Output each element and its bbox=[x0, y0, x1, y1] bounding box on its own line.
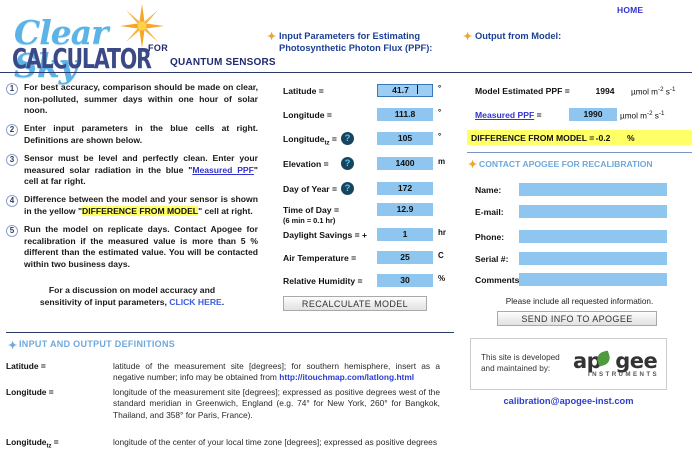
logo-calculator-text: CALCULATOR bbox=[12, 44, 151, 75]
apogee-wordmark-b: gee bbox=[615, 349, 657, 373]
instruction-text-5: Run the model on replicate days. Contact… bbox=[24, 224, 258, 270]
name-label: Name: bbox=[475, 185, 501, 195]
unit-sup-4: -1 bbox=[659, 110, 665, 117]
difference-from-model-label: DIFFERENCE FROM MODEL = bbox=[471, 133, 594, 143]
model-accuracy-note-line1: For a discussion on model accuracy and bbox=[49, 285, 215, 295]
email-label: E-mail: bbox=[475, 207, 504, 217]
for-subject-label: QUANTUM SENSORS bbox=[170, 57, 276, 68]
definition-longitude-tz-term-text: Longitude bbox=[6, 437, 46, 447]
relative-humidity-input[interactable]: 30 bbox=[377, 274, 433, 287]
time-of-day-input[interactable]: 12.9 bbox=[377, 203, 433, 216]
phone-field[interactable] bbox=[519, 230, 667, 243]
longitude-tz-label: Longitudetz = bbox=[283, 134, 337, 147]
day-of-year-input[interactable]: 172 bbox=[377, 182, 433, 195]
apogee-credit-line1: This site is developed bbox=[481, 353, 560, 362]
contact-section-divider bbox=[467, 152, 692, 153]
send-info-to-apogee-button[interactable]: SEND INFO TO APOGEE bbox=[497, 311, 657, 326]
elevation-unit: m bbox=[438, 157, 445, 166]
measured-ppf-inline-link[interactable]: Measured PPF bbox=[192, 165, 254, 175]
latitude-value: 41.7 bbox=[392, 85, 409, 95]
header-divider-left bbox=[0, 72, 262, 73]
header-divider bbox=[262, 72, 692, 73]
instruction-number-1: 1 bbox=[6, 83, 18, 95]
latlong-url-link[interactable]: http://itouchmap.com/latlong.html bbox=[279, 372, 414, 382]
home-link[interactable]: HOME bbox=[617, 5, 643, 15]
apogee-credit-line2: and maintained by: bbox=[481, 364, 550, 373]
sun-starburst-icon bbox=[120, 4, 164, 48]
definition-body-longitude-tz: longitude of the center of your local ti… bbox=[113, 437, 440, 448]
elevation-input[interactable]: 1400 bbox=[377, 157, 433, 170]
instruction-number-2: 2 bbox=[6, 124, 18, 136]
instruction-text-1: For best accuracy, comparison should be … bbox=[24, 82, 258, 117]
time-of-day-label: Time of Day = bbox=[283, 205, 339, 215]
recalculate-model-button[interactable]: RECALCULATE MODEL bbox=[283, 296, 427, 311]
elevation-help-icon[interactable]: ? bbox=[341, 157, 354, 170]
daylight-savings-input[interactable]: 1 bbox=[377, 228, 433, 241]
difference-from-model-unit: % bbox=[627, 133, 635, 143]
clear-sky-calculator-page: HOME Clear Sky CALCULATOR FOR QUANTUM SE… bbox=[0, 0, 692, 455]
definitions-divider bbox=[6, 332, 454, 333]
output-heading-star-icon: ✦ bbox=[463, 32, 472, 42]
definition-body-longitude: longitude of the measurement site [degre… bbox=[113, 387, 440, 421]
click-here-link[interactable]: CLICK HERE bbox=[169, 297, 222, 307]
serial-number-label: Serial #: bbox=[475, 254, 508, 264]
day-of-year-help-icon[interactable]: ? bbox=[341, 182, 354, 195]
air-temperature-input[interactable]: 25 bbox=[377, 251, 433, 264]
definition-term-longitude-tz: Longitudetz = bbox=[6, 437, 59, 450]
instruction-item-4: 4 Difference between the model and your … bbox=[6, 194, 258, 217]
elevation-label: Elevation = bbox=[283, 159, 329, 169]
apogee-email-link[interactable]: calibration@apogee-inst.com bbox=[470, 396, 667, 406]
comments-field[interactable] bbox=[519, 273, 667, 286]
longitude-tz-label-suffix: = bbox=[330, 134, 337, 144]
apogee-instruments-subtext: INSTRUMENTS bbox=[588, 371, 659, 378]
instruction-item-3: 3 Sensor must be level and perfectly cle… bbox=[6, 153, 258, 188]
instruction-text-2: Enter input parameters in the blue cells… bbox=[24, 123, 258, 146]
longitude-unit: ° bbox=[438, 108, 441, 117]
relative-humidity-unit: % bbox=[438, 274, 445, 283]
instruction-number-3: 3 bbox=[6, 154, 18, 166]
model-estimated-ppf-value: 1994 bbox=[584, 86, 626, 96]
measured-ppf-link[interactable]: Measured PPF bbox=[475, 110, 534, 120]
contact-apogee-heading: CONTACT APOGEE FOR RECALIBRATION bbox=[479, 158, 653, 170]
definition-term-latitude: Latitude = bbox=[6, 361, 46, 371]
latitude-input[interactable]: 41.7 bbox=[377, 84, 433, 97]
instruction-item-2: 2 Enter input parameters in the blue cel… bbox=[6, 123, 258, 146]
apogee-wordmark: apgee bbox=[573, 349, 657, 373]
daylight-savings-unit: hr bbox=[438, 228, 446, 237]
longitude-tz-unit: ° bbox=[438, 132, 441, 141]
definitions-heading: INPUT AND OUTPUT DEFINITIONS bbox=[19, 339, 175, 349]
email-field[interactable] bbox=[519, 205, 667, 218]
daylight-savings-label: Daylight Savings = + bbox=[283, 230, 367, 240]
apogee-credit-text: This site is developedand maintained by: bbox=[481, 352, 560, 374]
day-of-year-label: Day of Year = bbox=[283, 184, 337, 194]
for-label: FOR bbox=[148, 43, 168, 53]
unit-main-2: µmol m bbox=[620, 112, 647, 121]
latitude-label: Latitude = bbox=[283, 86, 324, 96]
air-temperature-label: Air Temperature = bbox=[283, 253, 356, 263]
serial-number-field[interactable] bbox=[519, 252, 667, 265]
unit-main-1: µmol m bbox=[631, 88, 658, 97]
output-heading: Output from Model: bbox=[475, 30, 655, 42]
relative-humidity-label: Relative Humidity = bbox=[283, 276, 363, 286]
time-of-day-note: (6 min = 0.1 hr) bbox=[283, 216, 335, 225]
phone-label: Phone: bbox=[475, 232, 504, 242]
text-caret bbox=[417, 85, 418, 94]
measured-ppf-label: Measured PPF = bbox=[475, 110, 542, 120]
measured-ppf-label-suffix: = bbox=[534, 110, 541, 120]
model-accuracy-note-line2-post: . bbox=[222, 297, 224, 307]
definition-longitude-tz-suffix: = bbox=[51, 437, 58, 447]
unit-sup-2: -1 bbox=[670, 86, 676, 93]
instruction-text-3: Sensor must be level and perfectly clean… bbox=[24, 153, 258, 188]
instructions-list: 1 For best accuracy, comparison should b… bbox=[6, 82, 258, 277]
latitude-unit: ° bbox=[438, 84, 441, 93]
longitude-tz-help-icon[interactable]: ? bbox=[341, 132, 354, 145]
definitions-heading-star-icon: ✦ bbox=[8, 341, 17, 351]
model-accuracy-note: For a discussion on model accuracy and s… bbox=[6, 285, 258, 308]
longitude-tz-input[interactable]: 105 bbox=[377, 132, 433, 145]
measured-ppf-input[interactable]: 1990 bbox=[569, 108, 617, 121]
input-parameters-heading: Input Parameters for Estimating Photosyn… bbox=[279, 30, 439, 55]
name-field[interactable] bbox=[519, 183, 667, 196]
air-temperature-unit: C bbox=[438, 251, 444, 260]
measured-ppf-unit: µmol m-2 s-1 bbox=[620, 110, 664, 121]
contact-heading-star-icon: ✦ bbox=[468, 160, 477, 170]
difference-from-model-value: -0.2 bbox=[586, 133, 620, 143]
longitude-input[interactable]: 111.8 bbox=[377, 108, 433, 121]
longitude-label: Longitude = bbox=[283, 110, 332, 120]
definition-term-longitude: Longitude = bbox=[6, 387, 54, 397]
definition-body-latitude: latitude of the measurement site [degree… bbox=[113, 361, 440, 384]
difference-from-model-inline-highlight: DIFFERENCE FROM MODEL bbox=[82, 206, 198, 216]
model-estimated-ppf-unit: µmol m-2 s-1 bbox=[631, 86, 675, 97]
comments-label: Comments: bbox=[475, 275, 522, 285]
instruction-number-4: 4 bbox=[6, 195, 18, 207]
clear-sky-calculator-logo: Clear Sky CALCULATOR bbox=[12, 8, 162, 70]
input-heading-star-icon: ✦ bbox=[267, 32, 276, 42]
contact-form-note: Please include all requested information… bbox=[467, 297, 692, 306]
instruction-item-1: 1 For best accuracy, comparison should b… bbox=[6, 82, 258, 117]
instruction-text-4: Difference between the model and your se… bbox=[24, 194, 258, 217]
instruction-item-5: 5 Run the model on replicate days. Conta… bbox=[6, 224, 258, 270]
model-accuracy-note-line2-pre: sensitivity of input parameters, bbox=[40, 297, 169, 307]
longitude-tz-label-text: Longitude bbox=[283, 134, 325, 144]
instruction-4-part-b: " cell at right. bbox=[198, 206, 253, 216]
model-estimated-ppf-label: Model Estimated PPF = bbox=[475, 86, 570, 96]
instruction-number-5: 5 bbox=[6, 225, 18, 237]
